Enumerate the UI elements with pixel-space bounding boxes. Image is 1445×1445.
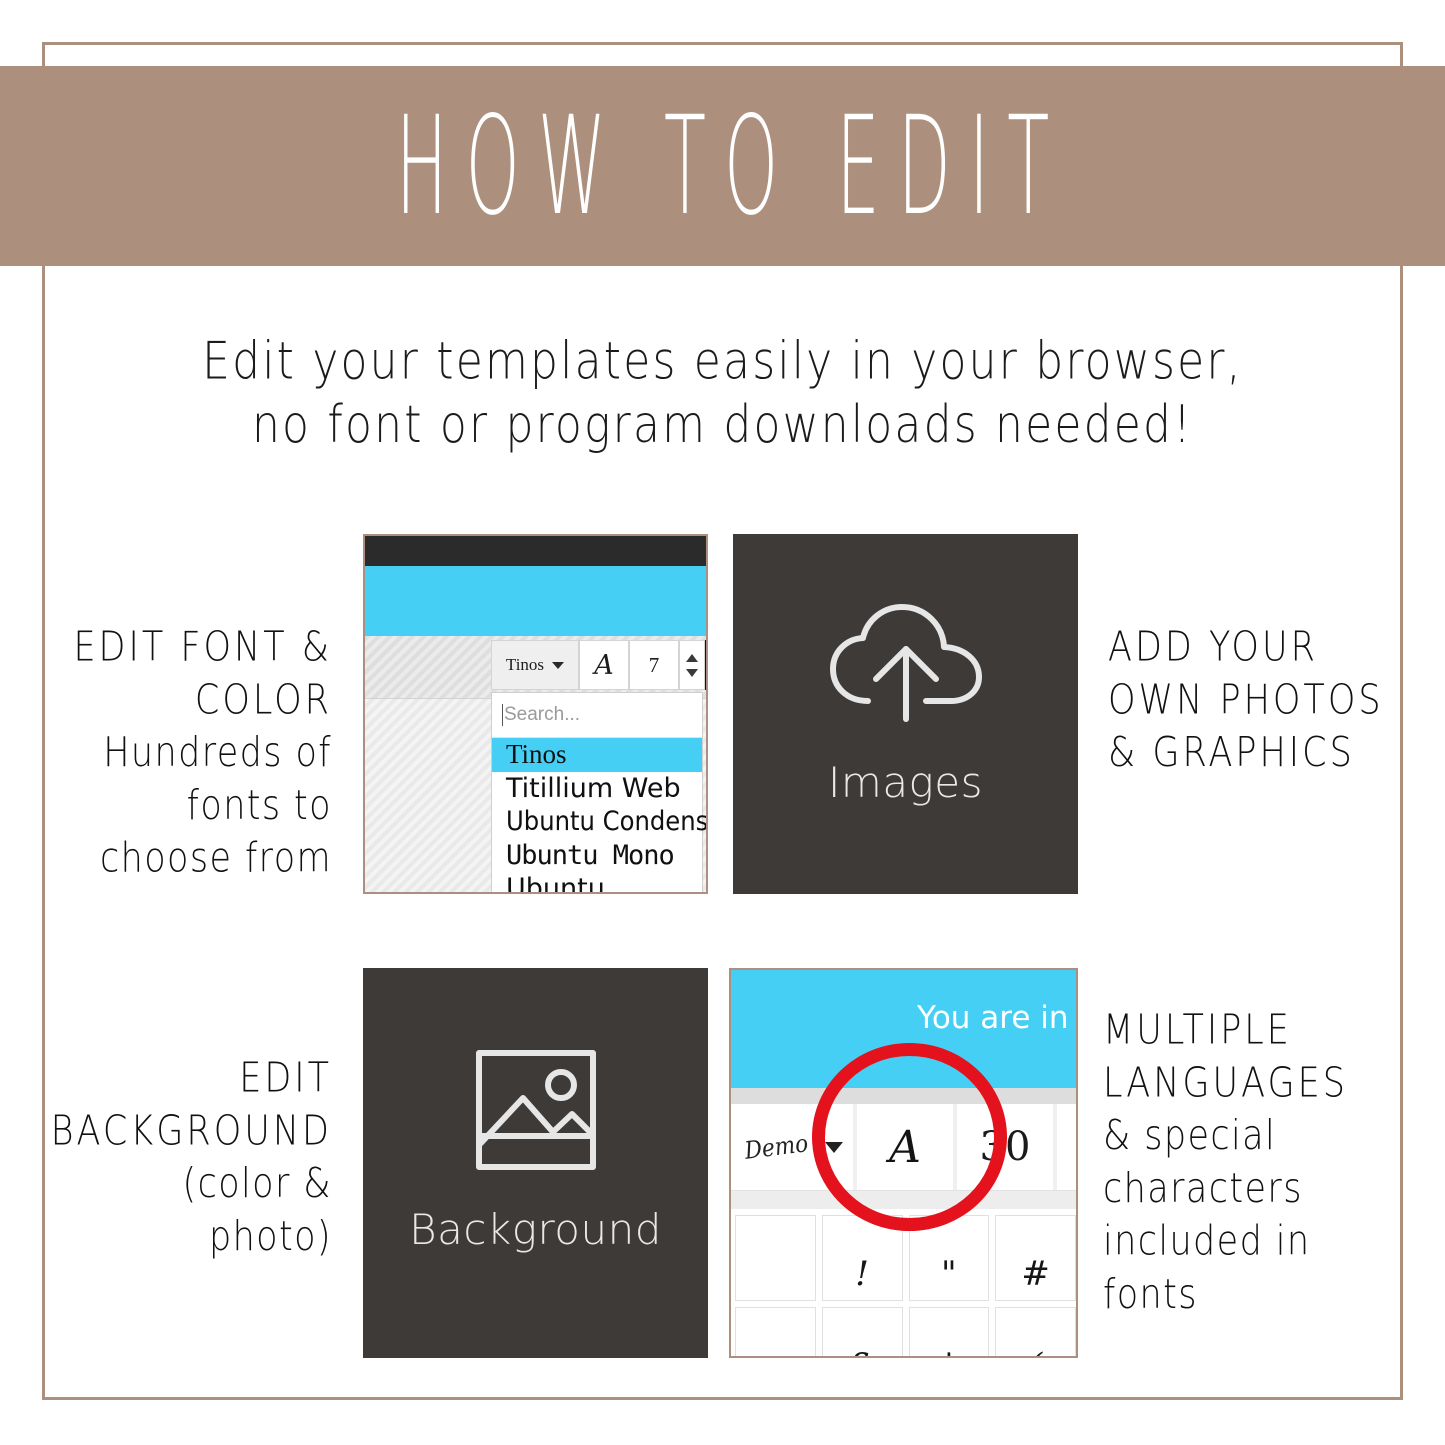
caption-line: included in	[1103, 1216, 1348, 1269]
chevron-down-icon	[552, 662, 564, 669]
cloud-upload-icon	[821, 597, 991, 730]
caption-multiple-languages: MULTIPLE LANGUAGES & special characters …	[1103, 1005, 1348, 1322]
glyph-cell[interactable]: &	[822, 1307, 903, 1358]
caption-line: EDIT FONT &	[73, 622, 332, 675]
panel-images[interactable]: Images	[733, 534, 1078, 894]
caption-line: LANGUAGES	[1103, 1058, 1348, 1111]
caption-line: fonts	[1103, 1269, 1348, 1322]
caption-edit-font-and-color: EDIT FONT & COLOR Hundreds of fonts to c…	[73, 622, 332, 886]
font-family-value: Tinos	[506, 655, 544, 675]
glyph-cell[interactable]: '	[909, 1307, 990, 1358]
subtitle-text: Edit your templates easily in your brows…	[0, 330, 1445, 457]
caption-line: Hundreds of	[73, 728, 332, 781]
font-style-glyph-button[interactable]: A	[579, 640, 629, 690]
glyph-grid: ! " # & ' (	[731, 1209, 1076, 1358]
app-blue-header	[365, 566, 706, 636]
caption-line: (color &	[51, 1159, 332, 1212]
caption-line: & special	[1103, 1111, 1348, 1164]
stepper-down-icon[interactable]	[686, 669, 698, 677]
caption-line: EDIT	[51, 1053, 332, 1106]
font-option-ubuntu-condensed[interactable]: Ubuntu Condensed	[492, 805, 702, 839]
panel-background[interactable]: Background	[363, 968, 708, 1358]
page-title: HOW TO EDIT	[378, 98, 1068, 234]
caption-line: photo)	[51, 1211, 332, 1264]
caption-line: BACKGROUND	[51, 1106, 332, 1159]
glyph-cell[interactable]: #	[995, 1215, 1076, 1301]
app-title-bar	[365, 536, 706, 566]
blue-banner-text: You are in c	[917, 1000, 1078, 1036]
font-size-input[interactable]: 7	[629, 640, 679, 690]
subtitle-line-1: Edit your templates easily in your brows…	[0, 330, 1445, 393]
font-option-tinos[interactable]: Tinos	[492, 738, 702, 772]
panel-background-label: Background	[409, 1205, 662, 1254]
text-color-swatch[interactable]	[705, 640, 708, 690]
stepper-up-icon[interactable]	[686, 654, 698, 662]
screenshot-font-picker: Tinos A 7 Search... Tinos Titillium Web …	[363, 534, 708, 894]
glyph-cell[interactable]: (	[995, 1307, 1076, 1358]
caption-edit-background: EDIT BACKGROUND (color & photo)	[51, 1053, 332, 1264]
red-highlight-circle-annotation	[812, 1043, 1007, 1231]
font-size-stepper[interactable]	[679, 640, 705, 690]
app-canvas-area: Tinos A 7 Search... Tinos Titillium Web …	[365, 636, 706, 894]
caption-line: MULTIPLE	[1103, 1005, 1348, 1058]
text-format-toolbar: Tinos A 7	[491, 640, 708, 690]
font-option-ubuntu[interactable]: Ubuntu	[492, 872, 702, 894]
panel-images-label: Images	[828, 758, 983, 807]
caption-line: fonts to	[73, 780, 332, 833]
subtitle-line-2: no font or program downloads needed!	[0, 393, 1445, 456]
picture-icon	[474, 1048, 598, 1177]
font-family-value: Demo	[743, 1129, 810, 1165]
font-family-dropdown-button[interactable]: Tinos	[491, 640, 579, 690]
font-family-dropdown-panel: Search... Tinos Titillium Web Ubuntu Con…	[491, 692, 703, 894]
header-banner: HOW TO EDIT	[0, 66, 1445, 266]
caption-line: ADD YOUR	[1108, 622, 1384, 675]
caption-line: characters	[1103, 1163, 1348, 1216]
glyph-cell[interactable]	[735, 1307, 816, 1358]
caption-line: OWN PHOTOS	[1108, 675, 1384, 728]
font-search-input[interactable]: Search...	[492, 693, 702, 738]
caption-line: COLOR	[73, 675, 332, 728]
caption-line: & GRAPHICS	[1108, 728, 1384, 781]
caption-add-your-own-photos: ADD YOUR OWN PHOTOS & GRAPHICS	[1108, 622, 1384, 780]
font-option-titillium-web[interactable]: Titillium Web	[492, 772, 702, 806]
font-option-list: Tinos Titillium Web Ubuntu Condensed Ubu…	[492, 738, 702, 894]
glyph-cell[interactable]	[735, 1215, 816, 1301]
caption-line: choose from	[73, 833, 332, 886]
font-option-ubuntu-mono[interactable]: Ubuntu Mono	[492, 839, 702, 873]
